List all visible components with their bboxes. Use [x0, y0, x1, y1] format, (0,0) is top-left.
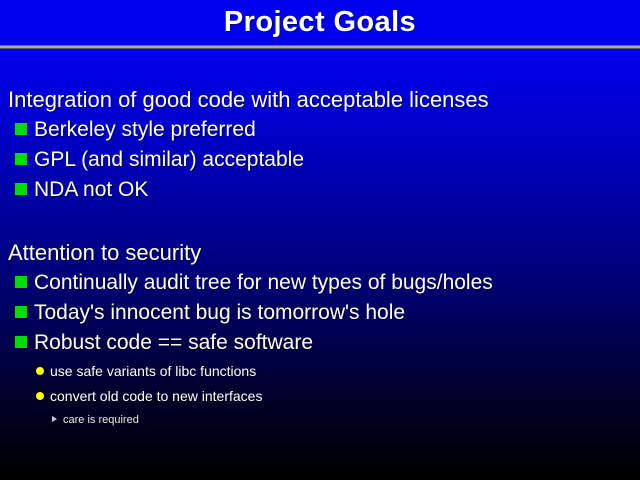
bullet-text: Robust code == safe software	[34, 331, 313, 354]
bullet-line-level2: Continually audit tree for new types of …	[15, 270, 493, 295]
slide-title-bar: Project Goals	[0, 0, 640, 45]
bullet-text: convert old code to new interfaces	[50, 388, 262, 404]
slide-title: Project Goals	[0, 4, 640, 40]
bullet-line-level4: care is required	[52, 413, 139, 427]
green-square-bullet-icon	[15, 123, 27, 135]
green-square-bullet-icon	[15, 306, 27, 318]
bullet-line-level2: Robust code == safe software	[15, 330, 313, 355]
yellow-dot-bullet-icon	[36, 392, 44, 400]
bullet-line-level2: NDA not OK	[15, 177, 148, 202]
bullet-text: Berkeley style preferred	[34, 118, 256, 141]
slide-body: Integration of good code with acceptable…	[0, 49, 640, 480]
green-square-bullet-icon	[15, 276, 27, 288]
bullet-line-level1: Attention to security	[8, 240, 201, 266]
bullet-text: Integration of good code with acceptable…	[8, 87, 489, 112]
bullet-line-level2: Today's innocent bug is tomorrow's hole	[15, 300, 405, 325]
bullet-line-level3: use safe variants of libc functions	[36, 362, 256, 380]
green-square-bullet-icon	[15, 183, 27, 195]
bullet-text: care is required	[63, 414, 139, 426]
bullet-text: use safe variants of libc functions	[50, 363, 256, 379]
bullet-text: Continually audit tree for new types of …	[34, 271, 493, 294]
bullet-line-level1: Integration of good code with acceptable…	[8, 87, 489, 113]
green-square-bullet-icon	[15, 336, 27, 348]
bullet-text: NDA not OK	[34, 178, 148, 201]
bullet-line-level3: convert old code to new interfaces	[36, 387, 262, 405]
presentation-slide: Project Goals Integration of good code w…	[0, 0, 640, 480]
bullet-text: Attention to security	[8, 240, 201, 265]
bullet-line-level2: GPL (and similar) acceptable	[15, 147, 304, 172]
bullet-text: Today's innocent bug is tomorrow's hole	[34, 301, 405, 324]
triangle-bullet-icon	[52, 416, 57, 422]
yellow-dot-bullet-icon	[36, 367, 44, 375]
green-square-bullet-icon	[15, 153, 27, 165]
bullet-line-level2: Berkeley style preferred	[15, 117, 256, 142]
bullet-text: GPL (and similar) acceptable	[34, 148, 304, 171]
